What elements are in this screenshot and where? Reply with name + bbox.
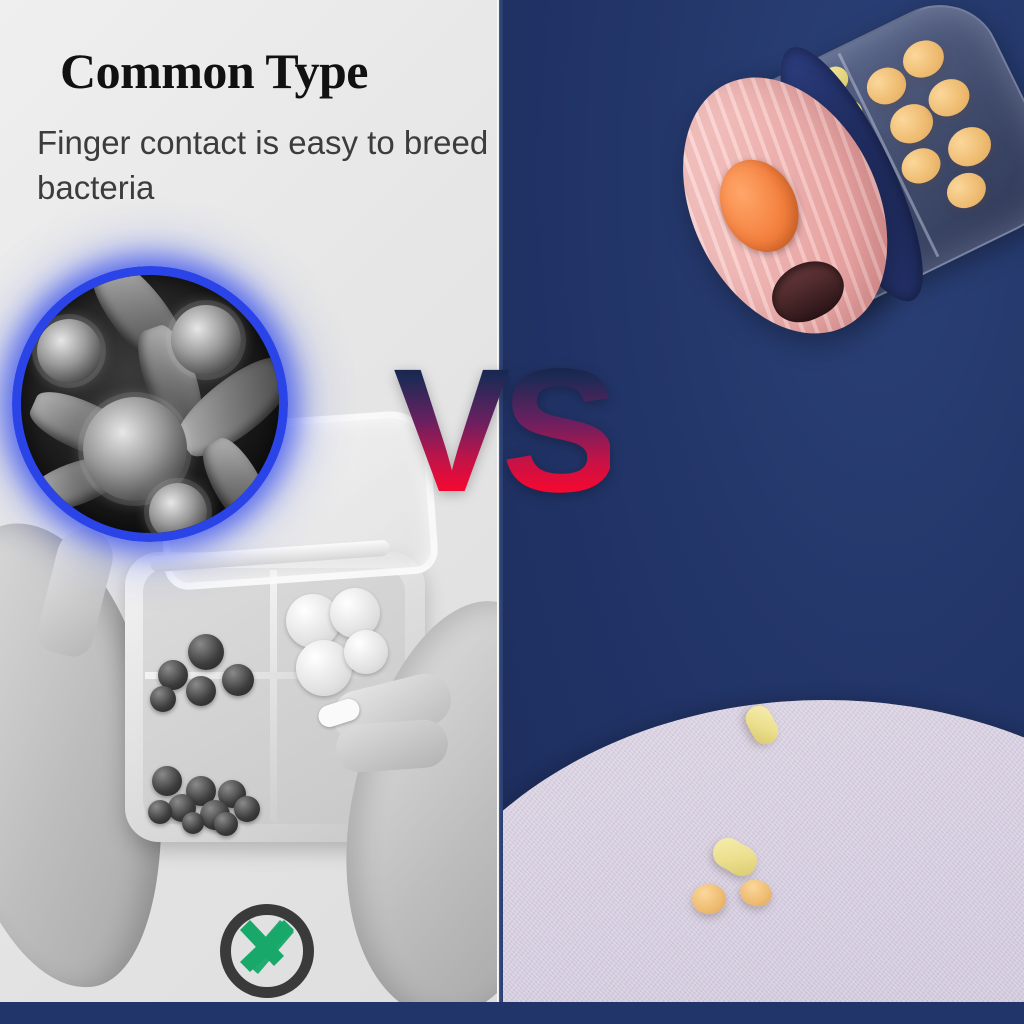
dark-pellet	[188, 634, 224, 670]
dark-pellet	[152, 766, 182, 796]
dark-pellet	[234, 796, 260, 822]
bacterium-cocci	[37, 319, 101, 383]
dark-pellet	[222, 664, 254, 696]
dark-pellet	[182, 812, 204, 834]
bacterium-cocci	[149, 483, 207, 541]
bottom-navy-band	[0, 1002, 1024, 1024]
dark-pellet	[186, 676, 216, 706]
verdict-ring-left	[220, 904, 314, 998]
left-panel-subtitle: Finger contact is easy to breed bacteria	[37, 120, 492, 210]
table-texture-overlay	[503, 700, 1024, 1002]
thumb-finger	[334, 718, 449, 774]
pill-dispenser-product	[630, 0, 1024, 471]
bacteria-magnifier-icon	[12, 266, 288, 542]
bacterium-cocci	[171, 305, 241, 375]
white-tablet	[344, 630, 388, 674]
pillbox-divider-vertical	[270, 570, 277, 822]
comparison-graphic: Common Type Finger contact is easy to br…	[0, 0, 1024, 1024]
dark-pellet	[150, 686, 176, 712]
left-panel-title: Common Type	[60, 42, 368, 100]
cross-in-circle-icon	[214, 898, 310, 994]
vs-badge: VS	[393, 352, 610, 510]
resting-tablet-1	[692, 884, 726, 914]
dark-pellet	[148, 800, 172, 824]
dark-pellet	[214, 812, 238, 836]
